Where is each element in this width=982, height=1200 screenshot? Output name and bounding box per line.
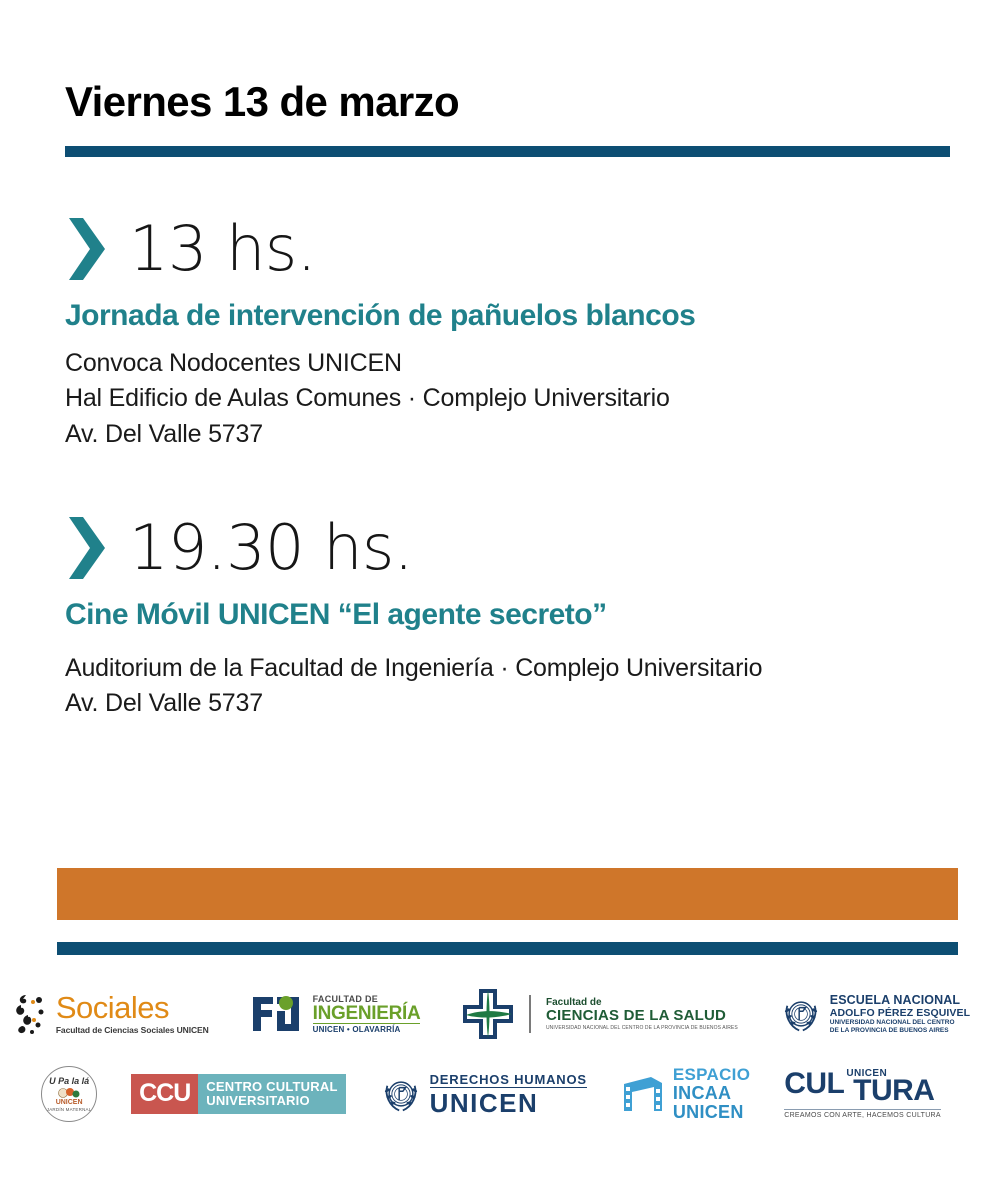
sociales-glyph-icon <box>12 992 48 1036</box>
navy-band <box>57 942 958 955</box>
logo-cultura-unicen: CUL UNICEN TURA CREAMOS CON ARTE, HACEMO… <box>784 1065 941 1123</box>
chevron-right-icon <box>65 515 107 581</box>
logo-salud-line2: CIENCIAS DE LA SALUD <box>546 1008 738 1025</box>
chevron-right-icon <box>65 216 107 282</box>
event-time-row: 19.30 hs. <box>65 504 965 592</box>
film-strip-icon <box>621 1075 665 1113</box>
page-title: Viernes 13 de marzo <box>65 80 958 124</box>
header: Viernes 13 de marzo <box>65 80 958 157</box>
header-divider <box>65 146 950 157</box>
event-item: 19.30 hs. Cine Móvil UNICEN “El agente s… <box>65 504 965 722</box>
logo-fio-line2: INGENIERÍA <box>313 1004 421 1024</box>
upa-circle-icon: U Pa la lá UNICEN JARDÍN MATERNAL <box>41 1066 97 1122</box>
sponsor-logos: Sociales Facultad de Ciencias Sociales U… <box>0 985 982 1123</box>
logo-escuela-text: ESCUELA NACIONAL ADOLFO PÉREZ ESQUIVEL U… <box>830 993 970 1035</box>
logo-escuela-line2: ADOLFO PÉREZ ESQUIVEL <box>830 1007 970 1019</box>
logo-incaa-line3: UNICEN <box>673 1103 750 1122</box>
event-time: 13 hs. <box>129 218 316 280</box>
events-list: 13 hs. Jornada de intervención de pañuel… <box>65 205 965 728</box>
logo-incaa-text: ESPACIO INCAA UNICEN <box>673 1066 750 1122</box>
event-detail-line: Av. Del Valle 5737 <box>65 686 965 722</box>
logo-fio-line3: UNICEN • OLAVARRÍA <box>313 1023 421 1034</box>
laurel-seal-icon <box>780 993 822 1035</box>
logo-upa-la-la: U Pa la lá UNICEN JARDÍN MATERNAL <box>41 1065 97 1123</box>
logo-row-primary: Sociales Facultad de Ciencias Sociales U… <box>0 985 982 1043</box>
event-detail-line: Convoca Nodocentes UNICEN <box>65 346 965 382</box>
logo-salud-text: Facultad de CIENCIAS DE LA SALUD UNIVERS… <box>546 997 738 1031</box>
event-time: 19.30 hs. <box>129 517 413 579</box>
logo-salud-line3: UNIVERSIDAD NACIONAL DEL CENTRO DE LA PR… <box>546 1025 738 1031</box>
logo-salud-divider <box>529 995 531 1033</box>
orange-band <box>57 868 958 920</box>
event-item: 13 hs. Jornada de intervención de pañuel… <box>65 205 965 452</box>
event-details: Convoca Nodocentes UNICEN Hal Edificio d… <box>65 346 965 453</box>
logo-escuela-line3: UNIVERSIDAD NACIONAL DEL CENTRO <box>830 1019 970 1027</box>
event-detail-line: Auditorium de la Facultad de Ingeniería … <box>65 651 965 687</box>
logo-ddhh-line2: UNICEN <box>430 1087 587 1116</box>
logo-ddhh-text: DERECHOS HUMANOS UNICEN <box>430 1072 587 1116</box>
logo-ccu-text: CENTRO CULTURAL UNIVERSITARIO <box>198 1074 345 1114</box>
event-title: Jornada de intervención de pañuelos blan… <box>65 299 965 334</box>
logo-ccu-line2: UNIVERSITARIO <box>206 1094 337 1108</box>
logo-ccu: CCU CENTRO CULTURAL UNIVERSITARIO <box>131 1065 345 1123</box>
logo-ciencias-salud: Facultad de CIENCIAS DE LA SALUD UNIVERS… <box>462 985 737 1043</box>
fio-monogram-icon <box>251 993 305 1035</box>
logo-derechos-humanos: DERECHOS HUMANOS UNICEN <box>380 1065 587 1123</box>
logo-upa-line3: JARDÍN MATERNAL <box>47 1107 92 1112</box>
logo-escuela-line4: DE LA PROVINCIA DE BUENOS AIRES <box>830 1027 970 1035</box>
logo-ddhh-line1: DERECHOS HUMANOS <box>430 1072 587 1087</box>
logo-upa-line2: UNICEN <box>56 1099 83 1106</box>
logo-espacio-incaa: ESPACIO INCAA UNICEN <box>621 1065 750 1123</box>
poster-page: Viernes 13 de marzo 13 hs. Jornada de in… <box>0 0 982 1200</box>
event-detail-line: Av. Del Valle 5737 <box>65 417 965 453</box>
logo-ccu-line1: CENTRO CULTURAL <box>206 1080 337 1094</box>
event-detail-line: Hal Edificio de Aulas Comunes · Complejo… <box>65 381 965 417</box>
logo-incaa-line2: INCAA <box>673 1084 750 1103</box>
logo-row-secondary: U Pa la lá UNICEN JARDÍN MATERNAL CCU CE… <box>0 1065 982 1123</box>
logo-sociales-sub: Facultad de Ciencias Sociales UNICEN <box>56 1025 209 1035</box>
logo-sociales-text: Sociales Facultad de Ciencias Sociales U… <box>56 993 209 1034</box>
event-details: Auditorium de la Facultad de Ingeniería … <box>65 651 965 722</box>
logo-escuela-nacional: ESCUELA NACIONAL ADOLFO PÉREZ ESQUIVEL U… <box>780 985 970 1043</box>
upa-illustration-icon <box>56 1087 82 1098</box>
logo-upa-line1: U Pa la lá <box>49 1076 89 1086</box>
laurel-seal-icon <box>380 1073 422 1115</box>
event-time-row: 13 hs. <box>65 205 965 293</box>
logo-ccu-acronym: CCU <box>131 1074 198 1114</box>
logo-incaa-line1: ESPACIO <box>673 1066 750 1084</box>
logo-cultura-part1: CUL <box>784 1069 844 1099</box>
logo-escuela-line1: ESCUELA NACIONAL <box>830 993 970 1007</box>
logo-fio-text: FACULTAD DE INGENIERÍA UNICEN • OLAVARRÍ… <box>313 994 421 1035</box>
logo-sociales: Sociales Facultad de Ciencias Sociales U… <box>12 985 209 1043</box>
logo-cultura-text: CUL UNICEN TURA CREAMOS CON ARTE, HACEMO… <box>784 1069 941 1119</box>
logo-fio: FACULTAD DE INGENIERÍA UNICEN • OLAVARRÍ… <box>251 985 421 1043</box>
event-title: Cine Móvil UNICEN “El agente secreto” <box>65 598 965 633</box>
logo-cultura-tagline: CREAMOS CON ARTE, HACEMOS CULTURA <box>784 1109 941 1119</box>
cross-icon <box>462 988 514 1040</box>
logo-cultura-part2: TURA <box>853 1076 934 1106</box>
logo-sociales-word: Sociales <box>56 993 209 1022</box>
